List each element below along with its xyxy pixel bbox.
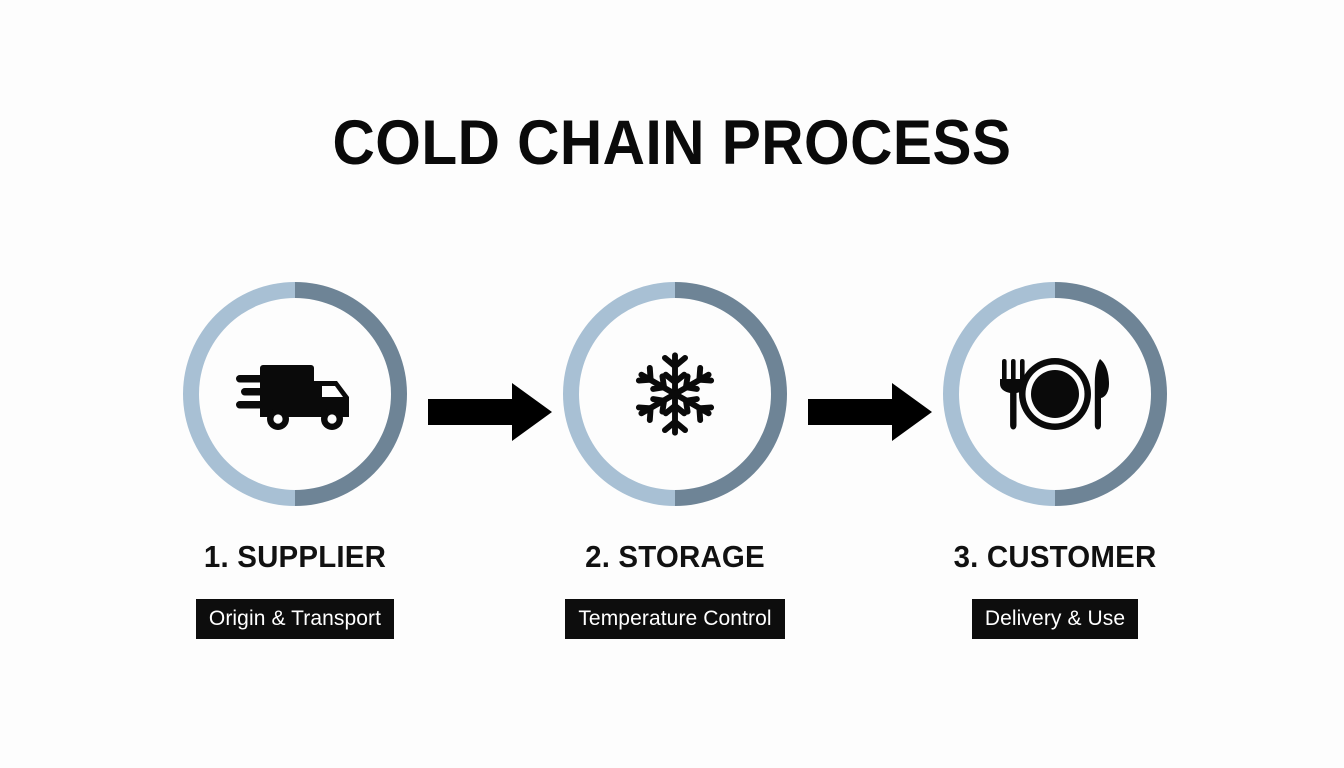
snowflake-icon (563, 282, 787, 506)
process-step-supplier[interactable]: 1. SUPPLIER Origin & Transport (145, 282, 445, 682)
step-badge-supplier: Origin & Transport (196, 599, 394, 639)
step-badge-row-supplier: Origin & Transport (145, 599, 445, 639)
step-title-supplier: 1. SUPPLIER (153, 541, 438, 572)
step-badge-row-customer: Delivery & Use (905, 599, 1205, 639)
step-badge-storage: Temperature Control (565, 599, 784, 639)
step-title-customer: 3. CUSTOMER (913, 541, 1198, 572)
step-icon-ring-storage (563, 282, 787, 506)
process-step-storage[interactable]: 2. STORAGE Temperature Control (525, 282, 825, 682)
plate-fork-knife-icon (943, 282, 1167, 506)
page-title: COLD CHAIN PROCESS (47, 112, 1297, 175)
step-badge-customer: Delivery & Use (972, 599, 1138, 639)
process-steps: 1. SUPPLIER Origin & Transport (0, 282, 1344, 702)
step-icon-ring-supplier (183, 282, 407, 506)
process-step-customer[interactable]: 3. CUSTOMER Delivery & Use (905, 282, 1205, 682)
infographic-canvas: COLD CHAIN PROCESS (0, 0, 1344, 768)
step-icon-ring-customer (943, 282, 1167, 506)
delivery-truck-icon (183, 282, 407, 506)
step-title-storage: 2. STORAGE (533, 541, 818, 572)
step-badge-row-storage: Temperature Control (525, 599, 825, 639)
